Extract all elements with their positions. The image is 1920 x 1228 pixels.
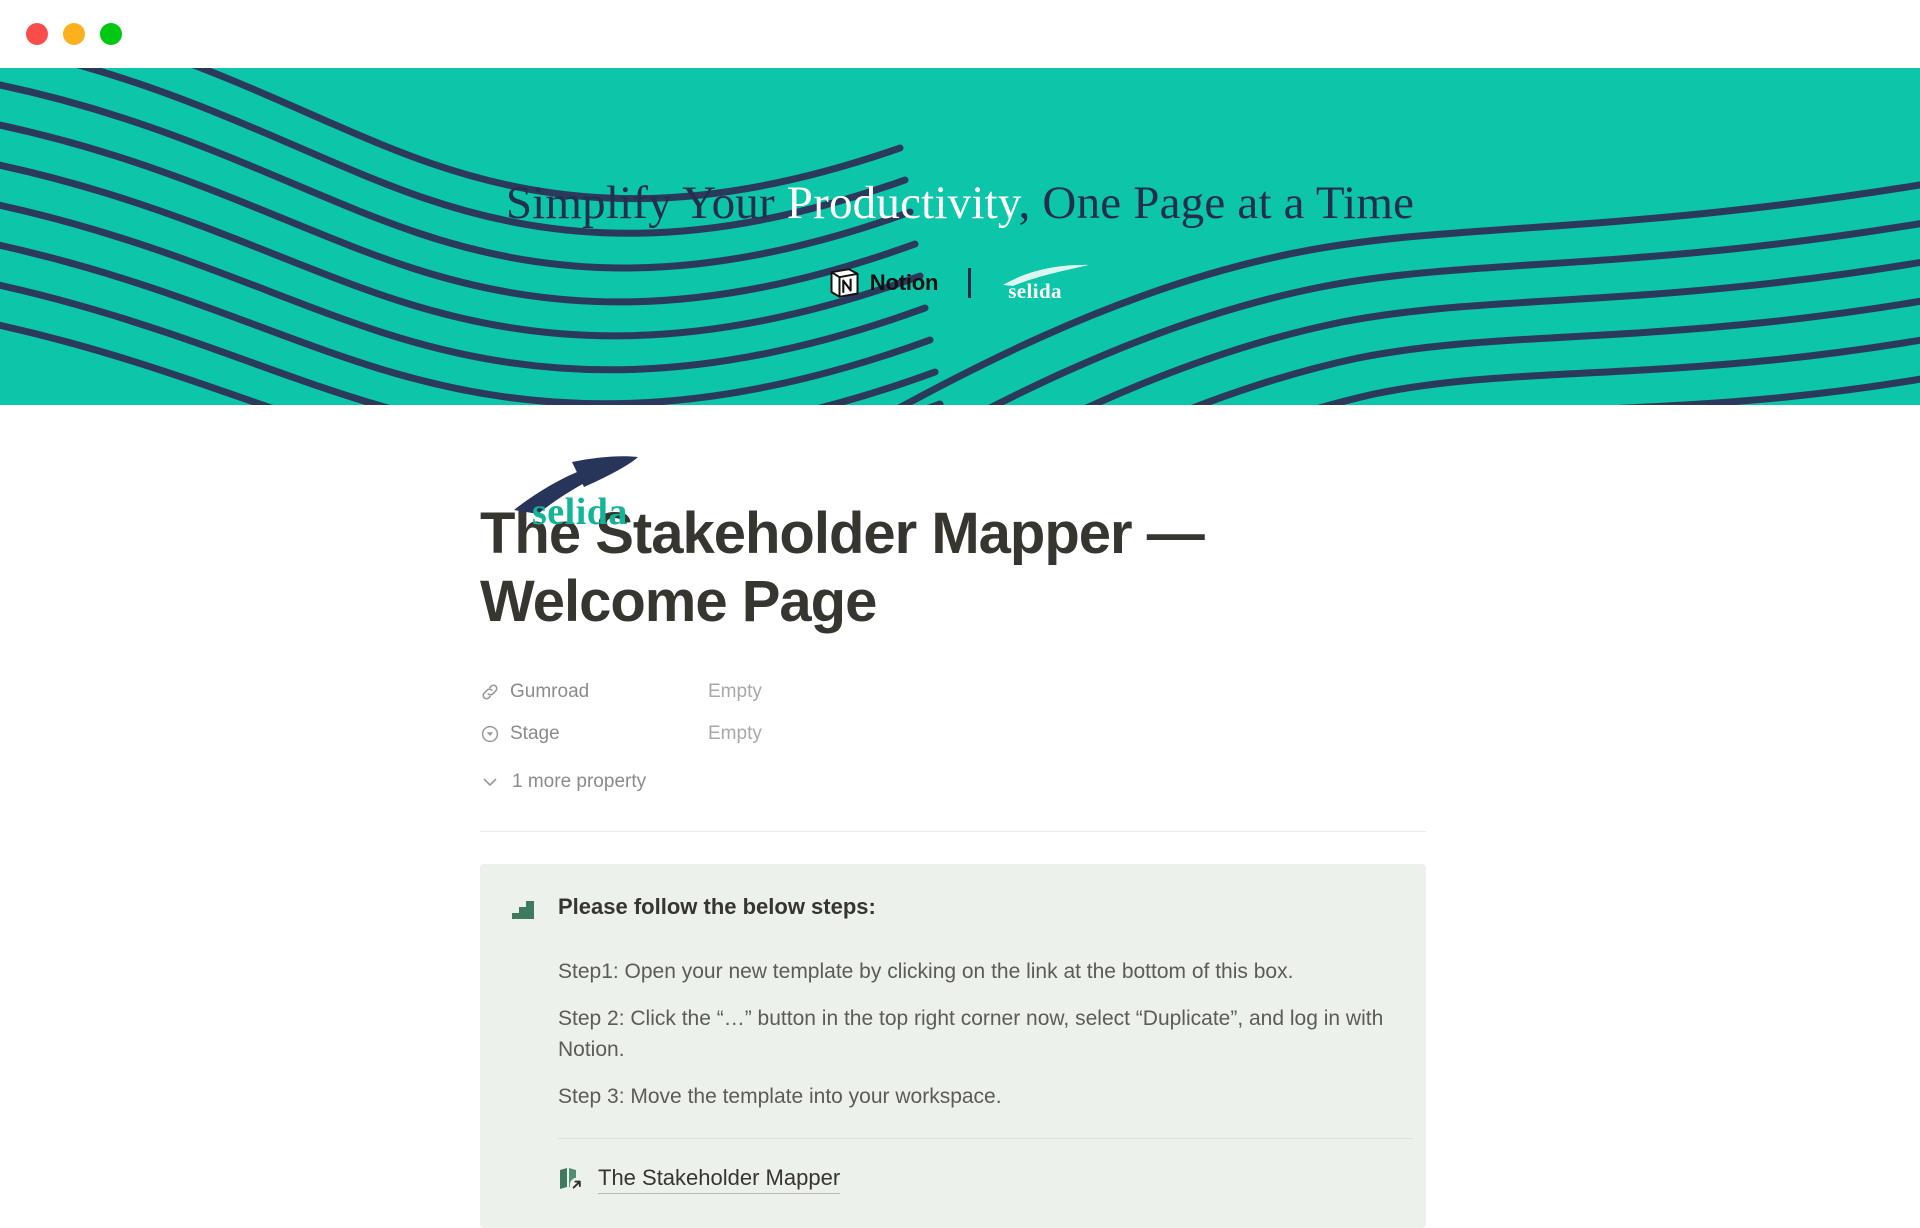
close-window-button[interactable] (26, 23, 48, 45)
stakeholder-mapper-link[interactable]: The Stakeholder Mapper (598, 1165, 840, 1194)
callout-steps: Step1: Open your new template by clickin… (510, 956, 1388, 1112)
page-body: selida The Stakeholder Mapper — Welcome … (0, 405, 1920, 1228)
property-row-stage[interactable]: Stage Empty (480, 713, 1440, 755)
property-row-gumroad[interactable]: Gumroad Empty (480, 671, 1440, 713)
property-label-gumroad: Gumroad (510, 681, 589, 703)
notion-badge-label: Notion (870, 270, 938, 296)
page-cover-banner: Simplify Your Productivity, One Page at … (0, 68, 1920, 405)
selida-badge: selida (1001, 263, 1093, 303)
selida-logo-icon[interactable]: selida (510, 452, 646, 530)
map-page-link-icon (558, 1166, 585, 1193)
property-key-gumroad[interactable]: Gumroad (480, 681, 708, 703)
property-key-stage[interactable]: Stage (480, 723, 708, 745)
selida-badge-label: selida (1008, 279, 1062, 304)
property-value-gumroad[interactable]: Empty (708, 681, 762, 703)
badge-separator (968, 268, 971, 298)
minimize-window-button[interactable] (63, 23, 85, 45)
chevron-down-icon (480, 772, 500, 792)
property-value-stage[interactable]: Empty (708, 723, 762, 745)
callout-divider (558, 1138, 1414, 1139)
callout-title: Please follow the below steps: (558, 894, 876, 920)
callout-step-1: Step1: Open your new template by clickin… (558, 956, 1388, 987)
stairs-icon (510, 897, 536, 923)
property-label-stage: Stage (510, 723, 560, 745)
callout-header: Please follow the below steps: (510, 894, 1388, 923)
banner-title-highlight: Productivity (787, 177, 1019, 229)
window-titlebar (0, 0, 1920, 68)
banner-content: Simplify Your Productivity, One Page at … (0, 68, 1920, 405)
instructions-callout: Please follow the below steps: Step1: Op… (480, 864, 1426, 1228)
more-properties-toggle[interactable]: 1 more property (480, 761, 1440, 803)
notion-badge: Notion (827, 266, 938, 300)
page-properties: Gumroad Empty Stage Empty 1 more (480, 671, 1440, 803)
banner-badge-row: Notion selida (827, 263, 1093, 303)
banner-title: Simplify Your Productivity, One Page at … (506, 176, 1414, 230)
callout-link-row[interactable]: The Stakeholder Mapper (510, 1165, 1388, 1194)
more-properties-label: 1 more property (512, 771, 646, 793)
svg-text:selida: selida (532, 491, 628, 530)
notion-cube-icon (827, 266, 861, 300)
banner-title-suffix: , One Page at a Time (1019, 177, 1415, 229)
page-divider (480, 831, 1426, 832)
link-icon (480, 682, 500, 702)
select-chevron-circle-icon (480, 724, 500, 744)
callout-step-3: Step 3: Move the template into your work… (558, 1081, 1388, 1112)
banner-title-prefix: Simplify Your (506, 177, 787, 229)
callout-step-2: Step 2: Click the “…” button in the top … (558, 1003, 1388, 1065)
zoom-window-button[interactable] (100, 23, 122, 45)
